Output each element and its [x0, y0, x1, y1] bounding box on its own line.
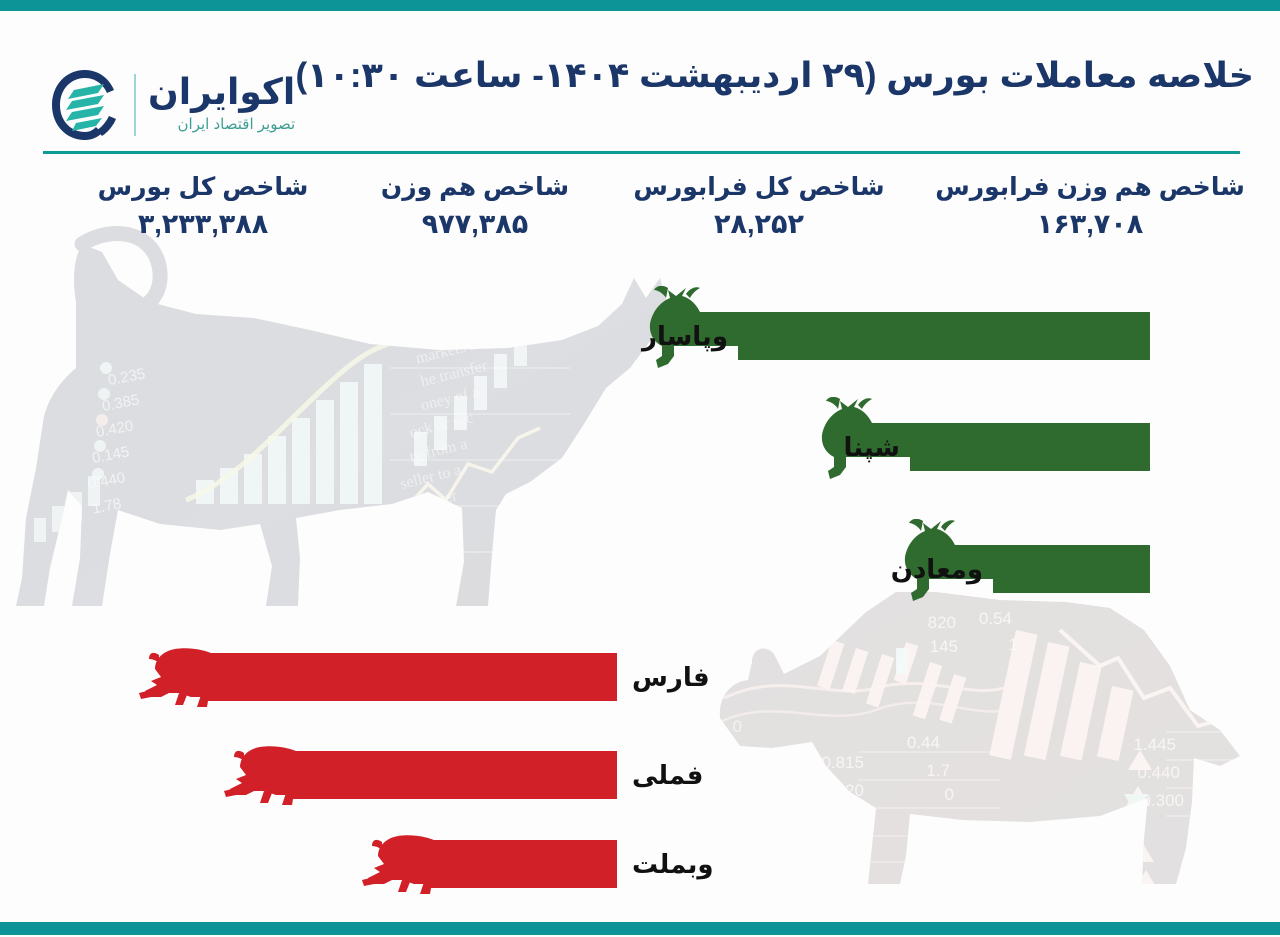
bar-positive: [910, 423, 1150, 471]
header: خلاصه معاملات بورس (۲۹ اردیبهشت ۱۴۰۴- سا…: [0, 18, 1280, 146]
page-title: خلاصه معاملات بورس (۲۹ اردیبهشت ۱۴۰۴- سا…: [295, 56, 1254, 96]
row-label: ومعادن: [891, 551, 983, 587]
row-label: فملی: [632, 757, 703, 793]
index-summary-row: شاخص کل بورس ۳,۲۳۳,۳۸۸ شاخص هم وزن ۹۷۷,۳…: [0, 172, 1280, 268]
index-label: شاخص کل فرابورس: [624, 172, 894, 203]
index-card-total: شاخص کل بورس ۳,۲۳۳,۳۸۸: [88, 172, 318, 242]
influential-symbols-chart: وپاسار شپنا: [0, 268, 1280, 908]
index-card-farabourse-total: شاخص کل فرابورس ۲۸,۲۵۲: [624, 172, 894, 242]
bar-negative: [290, 751, 617, 799]
header-divider: [43, 151, 1240, 154]
row-label: شپنا: [843, 429, 900, 465]
row-label: وبملت: [632, 846, 714, 882]
bear-icon: [139, 631, 249, 731]
infographic-canvas: خلاصه معاملات بورس (۲۹ اردیبهشت ۱۴۰۴- سا…: [0, 0, 1280, 937]
logo-divider: [134, 74, 136, 136]
index-label: شاخص هم وزن فرابورس: [920, 172, 1260, 203]
index-value: ۱۶۳,۷۰۸: [920, 207, 1260, 242]
brand-name: اکوایران: [148, 73, 295, 111]
index-label: شاخص کل بورس: [88, 172, 318, 203]
logo-wordmark: اکوایران تصویر اقتصاد ایران: [148, 73, 295, 137]
brand-logo: اکوایران تصویر اقتصاد ایران: [46, 62, 336, 148]
index-value: ۹۷۷,۳۸۵: [370, 207, 580, 242]
index-value: ۳,۲۳۳,۳۸۸: [88, 207, 318, 242]
row-label: فارس: [632, 659, 710, 695]
bar-negative: [205, 653, 617, 701]
bear-icon: [362, 818, 472, 918]
index-card-equal-weight: شاخص هم وزن ۹۷۷,۳۸۵: [370, 172, 580, 242]
row-label: وپاسار: [642, 318, 728, 354]
bottom-accent-bar: [0, 922, 1280, 935]
bar-positive: [738, 312, 1150, 360]
index-value: ۲۸,۲۵۲: [624, 207, 894, 242]
index-label: شاخص هم وزن: [370, 172, 580, 203]
bar-positive: [993, 545, 1150, 593]
bear-icon: [224, 729, 334, 829]
index-card-farabourse-equal-weight: شاخص هم وزن فرابورس ۱۶۳,۷۰۸: [920, 172, 1260, 242]
brand-tagline: تصویر اقتصاد ایران: [178, 113, 296, 137]
eco-iran-swoosh-icon: [46, 66, 124, 144]
top-accent-bar: [0, 0, 1280, 11]
